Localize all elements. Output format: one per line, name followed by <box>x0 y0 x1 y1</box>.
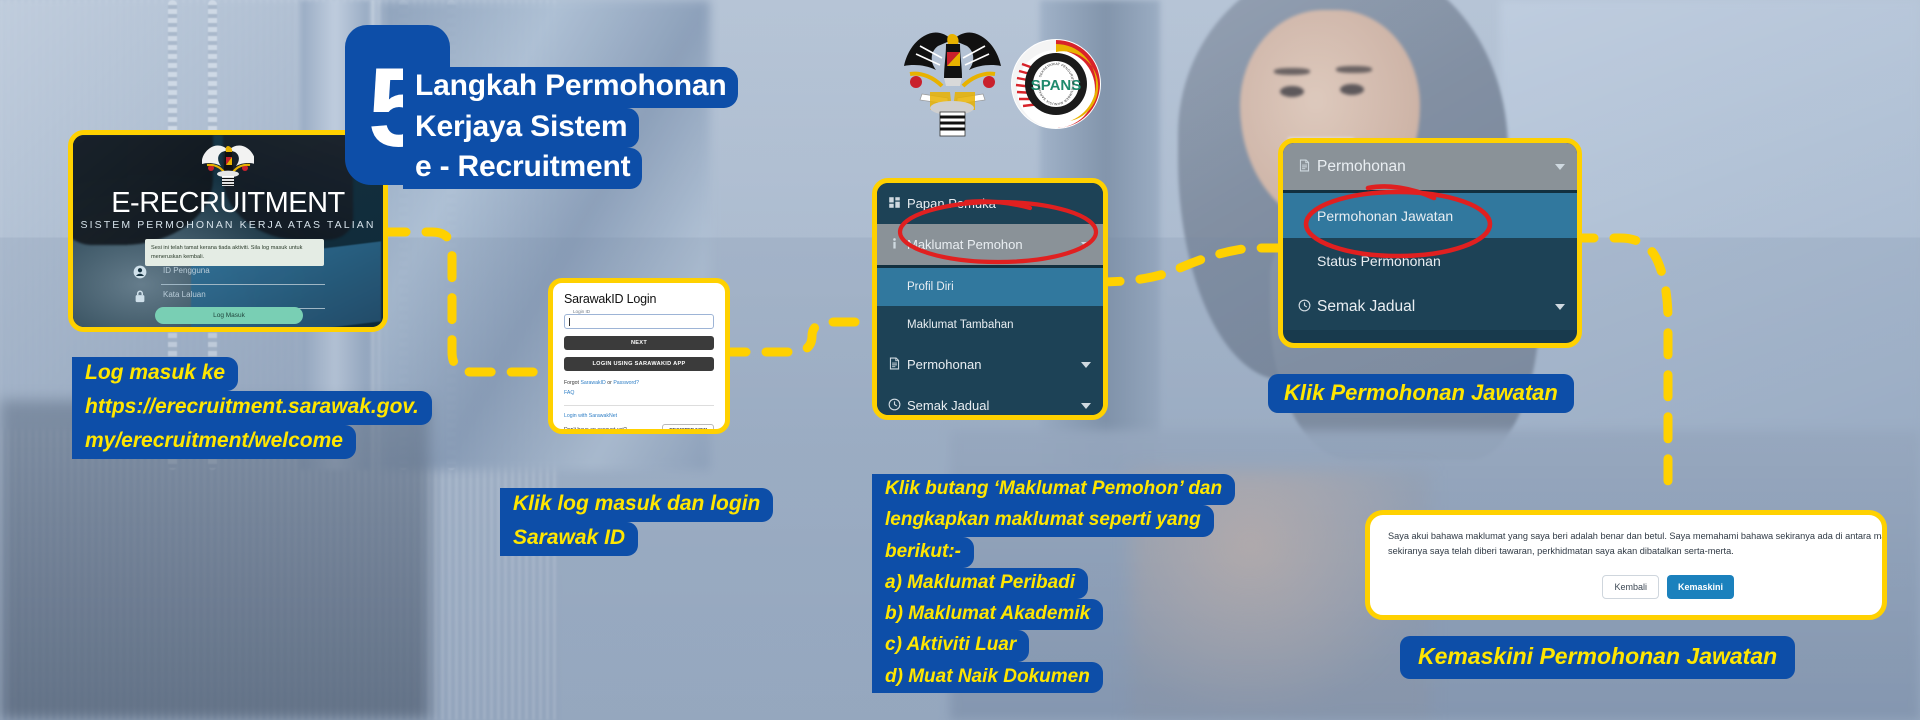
menu-item-semak-jadual[interactable]: Semak Jadual <box>877 385 1103 420</box>
clock-icon <box>881 398 907 414</box>
text-caret <box>569 318 570 326</box>
menu-item-profil-diri[interactable]: Profil Diri <box>877 268 1103 306</box>
sarawaknet-login-link[interactable]: Login with SarawakNet <box>564 413 617 419</box>
confirmation-dialog[interactable]: Saya akui bahawa maklumat yang saya beri… <box>1365 510 1887 620</box>
lock-icon <box>133 289 147 303</box>
erec-login-button[interactable]: Log Masuk <box>155 307 303 324</box>
menu-item-label: Semak Jadual <box>1317 298 1555 316</box>
caption-step-3-line-7: d) Muat Naik Dokumen <box>872 662 1103 693</box>
forgot-label: Forgot <box>564 380 580 386</box>
menu-item-semak-jadual[interactable]: Semak Jadual <box>1283 283 1577 330</box>
application-menu[interactable]: PermohonanPermohonan JawatanStatus Permo… <box>1278 138 1582 348</box>
kemaskini-button[interactable]: Kemaskini <box>1667 575 1734 599</box>
caption-step-3-line-1: Klik butang ‘Maklumat Pemohon’ dan <box>872 474 1235 505</box>
caption-step-4-line-1: Klik Permohonan Jawatan <box>1268 374 1574 413</box>
poster-title-lines: Langkah Permohonan Kerjaya Sistem e - Re… <box>403 67 738 189</box>
document-icon <box>881 357 907 373</box>
user-icon <box>133 265 147 279</box>
menu-item-maklumat-tambahan[interactable]: Maklumat Tambahan <box>877 306 1103 344</box>
chevron-down-icon[interactable] <box>1081 403 1091 409</box>
caption-step-3-line-4: a) Maklumat Peribadi <box>872 568 1088 599</box>
sarawakid-title: SarawakID Login <box>564 292 714 306</box>
erec-password-placeholder: Kata Laluan <box>163 290 206 299</box>
menu-item-maklumat-pemohon[interactable]: Maklumat Pemohon <box>877 224 1103 265</box>
menu-item-status-permohonan[interactable]: Status Permohonan <box>1283 238 1577 283</box>
title-line-3: e - Recruitment <box>403 148 642 189</box>
caption-step-4: Klik Permohonan Jawatan <box>1268 374 1574 413</box>
menu-item-label: Maklumat Tambahan <box>907 319 1103 331</box>
caption-step-5: Kemaskini Permohonan Jawatan <box>1400 636 1795 679</box>
chevron-down-icon[interactable] <box>1081 242 1091 248</box>
menu-item-papan-pemuka[interactable]: Papan Pemuka <box>877 183 1103 224</box>
caption-step-3-line-6: c) Aktiviti Luar <box>872 630 1029 661</box>
clock-icon <box>1291 299 1317 315</box>
title-line-2: Kerjaya Sistem <box>403 108 639 149</box>
menu-item-permohonan-jawatan[interactable]: Permohonan Jawatan <box>1283 193 1577 238</box>
caption-step-2: Klik log masuk dan login Sarawak ID <box>500 488 773 556</box>
menu-item-label: Papan Pemuka <box>907 196 1103 211</box>
erec-username-underline <box>161 284 325 285</box>
sarawak-coat-of-arms-icon <box>202 141 254 187</box>
confirmation-text-line-1: Saya akui bahawa maklumat yang saya beri… <box>1388 529 1878 544</box>
no-account-label: Don't have an account yet? <box>564 427 627 433</box>
confirmation-text-line-2: sekiranya saya telah diberi tawaran, per… <box>1388 544 1878 559</box>
chevron-down-icon[interactable] <box>1555 304 1565 310</box>
applicant-info-menu[interactable]: Papan PemukaMaklumat PemohonProfil DiriM… <box>872 178 1108 420</box>
erec-username-placeholder: ID Pengguna <box>163 266 210 275</box>
sarawak-coat-of-arms-icon <box>900 22 1005 142</box>
menu-item-label: Status Permohonan <box>1317 253 1577 269</box>
info-icon <box>881 237 907 253</box>
sarawakid-login-id-label: Login ID <box>570 309 593 314</box>
chevron-down-icon[interactable] <box>1555 164 1565 170</box>
divider <box>564 405 714 406</box>
spans-logo-icon: SPANS SEKRETARIAT PENGURUSAN SUMBER MANU… <box>1010 38 1102 130</box>
confirmation-actions: Kembali Kemaskini <box>1602 575 1734 599</box>
poster-canvas: 5 Langkah Permohonan Kerjaya Sistem e - … <box>0 0 1920 720</box>
sarawakid-login-card[interactable]: SarawakID Login Login ID NEXT LOGIN USIN… <box>548 278 730 434</box>
menu-item-label: Profil Diri <box>907 281 1103 293</box>
erec-password-field[interactable]: Kata Laluan <box>133 287 325 309</box>
caption-step-2-line-1: Klik log masuk dan login <box>500 488 773 522</box>
forgot-password-link[interactable]: Password? <box>613 380 639 386</box>
sarawakid-help-links: Forgot SarawakID or Password? FAQ <box>564 379 714 399</box>
register-now-button[interactable]: REGISTER NOW <box>662 424 714 434</box>
menu-item-label: Maklumat Pemohon <box>907 237 1081 252</box>
dashboard-icon <box>881 196 907 212</box>
erecruitment-login-screenshot[interactable]: E-RECRUITMENT SISTEM PERMOHONAN KERJA AT… <box>68 130 388 332</box>
chevron-down-icon[interactable] <box>1081 362 1091 368</box>
menu-item-label: Permohonan <box>907 357 1081 372</box>
sarawakid-app-login-button[interactable]: LOGIN USING SARAWAKID APP <box>564 357 714 371</box>
caption-step-3-line-2: lengkapkan maklumat seperti yang <box>872 505 1214 536</box>
sarawakid-login-id-input[interactable] <box>564 314 714 329</box>
menu-item-label: Semak Jadual <box>907 398 1081 413</box>
confirmation-text: Saya akui bahawa maklumat yang saya beri… <box>1388 529 1878 559</box>
sarawakid-login-id-field[interactable]: Login ID <box>564 314 714 329</box>
caption-step-5-line-1: Kemaskini Permohonan Jawatan <box>1400 636 1795 679</box>
forgot-sarawakid-link[interactable]: SarawakID <box>580 380 605 386</box>
menu-item-label: Permohonan Jawatan <box>1317 208 1577 224</box>
erec-title: E-RECRUITMENT <box>73 187 383 220</box>
erec-subtitle: SISTEM PERMOHONAN KERJA ATAS TALIAN <box>73 219 383 231</box>
caption-step-3: Klik butang ‘Maklumat Pemohon’ dan lengk… <box>872 474 1235 693</box>
menu-item-permohonan[interactable]: Permohonan <box>877 344 1103 385</box>
menu-item-permohonan[interactable]: Permohonan <box>1283 143 1577 190</box>
caption-step-1-line-3: my/erecruitment/welcome <box>72 425 356 459</box>
caption-step-3-line-5: b) Maklumat Akademik <box>872 599 1103 630</box>
caption-step-2-line-2: Sarawak ID <box>500 522 638 556</box>
erec-username-field[interactable]: ID Pengguna <box>133 263 325 285</box>
document-icon <box>1291 159 1317 175</box>
caption-step-1-line-1: Log masuk ke <box>72 357 238 391</box>
title-line-1: Langkah Permohonan <box>403 67 738 108</box>
sarawakid-next-button[interactable]: NEXT <box>564 336 714 350</box>
caption-step-1-line-2: https://erecruitment.sarawak.gov. <box>72 391 432 425</box>
kembali-button[interactable]: Kembali <box>1602 575 1659 599</box>
caption-step-1: Log masuk ke https://erecruitment.sarawa… <box>72 357 432 459</box>
caption-step-3-line-3: berikut:- <box>872 537 974 568</box>
menu-item-label: Permohonan <box>1317 158 1555 176</box>
faq-link[interactable]: FAQ <box>564 390 574 396</box>
